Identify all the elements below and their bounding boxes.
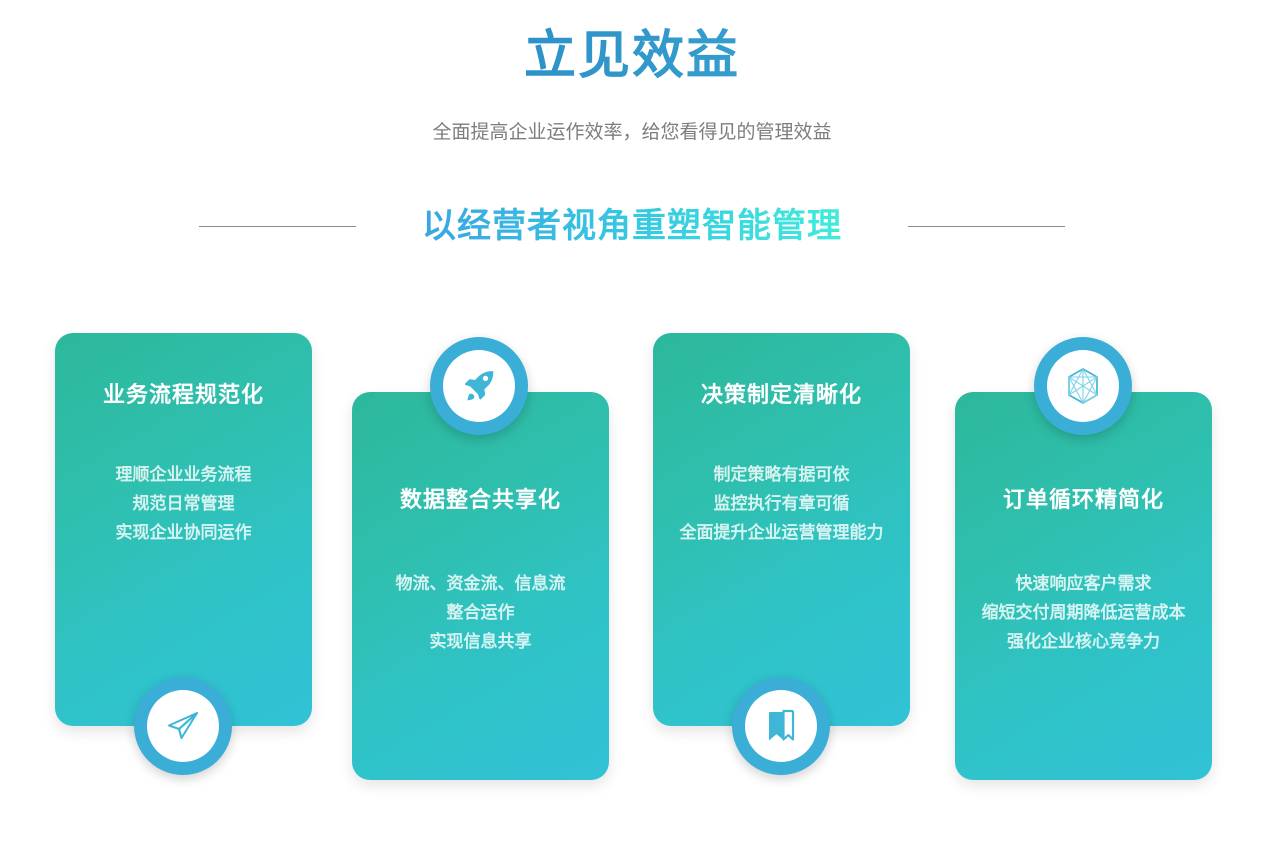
feature-card-business-process[interactable]: 业务流程规范化 理顺企业业务流程规范日常管理实现企业协同运作: [55, 333, 312, 726]
card-title: 决策制定清晰化: [653, 380, 910, 410]
icon-disc: [745, 690, 817, 762]
feature-card-data-integration[interactable]: 数据整合共享化 物流、资金流、信息流整合运作实现信息共享: [352, 392, 609, 780]
benefits-section-page: 立见效益 全面提高企业运作效率，给您看得见的管理效益 以经营者视角重塑智能管理 …: [0, 0, 1264, 859]
card-body: 快速响应客户需求缩短交付周期降低运营成本强化企业核心竞争力: [955, 569, 1212, 656]
card-title: 订单循环精简化: [955, 485, 1212, 515]
icon-disc: [1047, 350, 1119, 422]
feature-icon-badge-1[interactable]: [134, 677, 232, 775]
feature-card-decision-making[interactable]: 决策制定清晰化 制定策略有据可依监控执行有章可循全面提升企业运营管理能力: [653, 333, 910, 726]
hexagon-network-icon: [1063, 366, 1103, 406]
paper-plane-icon: [164, 707, 202, 745]
feature-card-grid: 业务流程规范化 理顺企业业务流程规范日常管理实现企业协同运作 数据整合共享化 物…: [0, 0, 1264, 859]
bookmark-icon: [763, 707, 799, 745]
card-body: 物流、资金流、信息流整合运作实现信息共享: [352, 569, 609, 656]
feature-icon-badge-2[interactable]: [430, 337, 528, 435]
rocket-icon: [460, 367, 498, 405]
feature-icon-badge-3[interactable]: [732, 677, 830, 775]
card-title: 数据整合共享化: [352, 485, 609, 515]
card-title: 业务流程规范化: [55, 380, 312, 410]
card-body: 制定策略有据可依监控执行有章可循全面提升企业运营管理能力: [653, 460, 910, 547]
icon-disc: [147, 690, 219, 762]
feature-icon-badge-4[interactable]: [1034, 337, 1132, 435]
card-body: 理顺企业业务流程规范日常管理实现企业协同运作: [55, 460, 312, 547]
icon-disc: [443, 350, 515, 422]
feature-card-order-cycle[interactable]: 订单循环精简化 快速响应客户需求缩短交付周期降低运营成本强化企业核心竞争力: [955, 392, 1212, 780]
